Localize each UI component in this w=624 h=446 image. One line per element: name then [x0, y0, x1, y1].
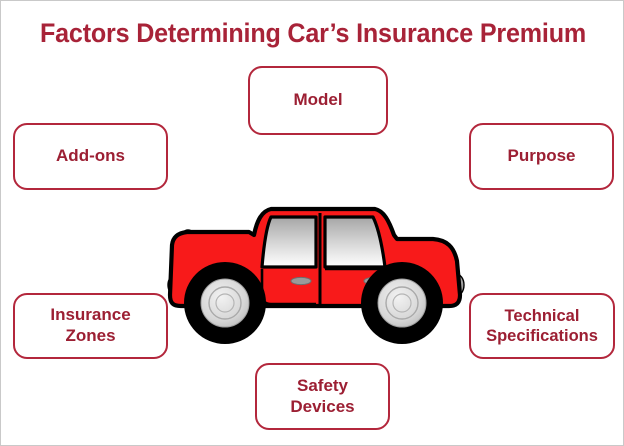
front-window: [262, 217, 316, 267]
rear-wheel: [361, 262, 443, 344]
red-car-illustration: [161, 177, 471, 347]
factor-box-purpose[interactable]: Purpose: [469, 123, 614, 190]
factor-label-safety-devices: Safety Devices: [290, 376, 354, 417]
rear-window: [325, 217, 385, 267]
factor-box-technical-specifications[interactable]: Technical Specifications: [469, 293, 615, 359]
factor-label-purpose: Purpose: [507, 146, 575, 167]
factor-box-addons[interactable]: Add-ons: [13, 123, 168, 190]
factor-label-model: Model: [293, 90, 342, 111]
door-handle-front: [291, 277, 311, 284]
page-title: Factors Determining Car’s Insurance Prem…: [23, 18, 603, 49]
factor-box-safety-devices[interactable]: Safety Devices: [255, 363, 390, 430]
factor-label-addons: Add-ons: [56, 146, 125, 167]
factor-label-technical-specifications: Technical Specifications: [486, 306, 598, 346]
factor-label-insurance-zones: Insurance Zones: [50, 305, 130, 346]
factor-box-insurance-zones[interactable]: Insurance Zones: [13, 293, 168, 359]
front-wheel: [184, 262, 266, 344]
infographic-canvas: Factors Determining Car’s Insurance Prem…: [0, 0, 624, 446]
factor-box-model[interactable]: Model: [248, 66, 388, 135]
